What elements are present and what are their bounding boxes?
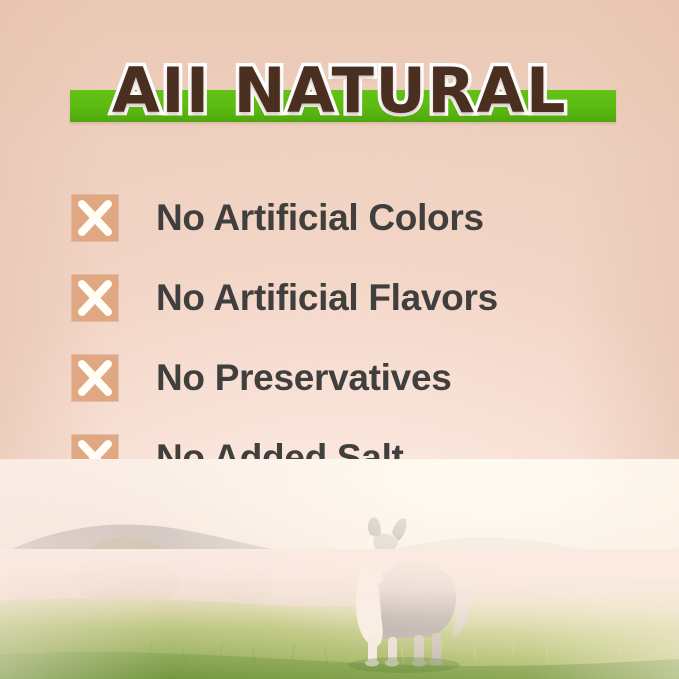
dog-field-photo bbox=[0, 459, 679, 679]
x-mark-icon bbox=[72, 275, 118, 321]
list-item: No Preservatives bbox=[72, 338, 632, 418]
claims-list: No Artificial Colors No Artificial Flavo… bbox=[72, 178, 632, 498]
list-item-label: No Artificial Colors bbox=[156, 198, 484, 238]
list-item-label: No Preservatives bbox=[156, 358, 452, 398]
photo-illustration bbox=[0, 459, 679, 679]
headline-banner: AII NATURAL bbox=[0, 52, 679, 132]
list-item: No Artificial Colors bbox=[72, 178, 632, 258]
headline-title: AII NATURAL bbox=[0, 52, 679, 130]
list-item-label: No Artificial Flavors bbox=[156, 278, 498, 318]
list-item: No Artificial Flavors bbox=[72, 258, 632, 338]
x-mark-icon bbox=[72, 355, 118, 401]
x-mark-icon bbox=[72, 195, 118, 241]
product-feature-poster: AII NATURAL No Artificial Colors No Arti… bbox=[0, 0, 679, 679]
